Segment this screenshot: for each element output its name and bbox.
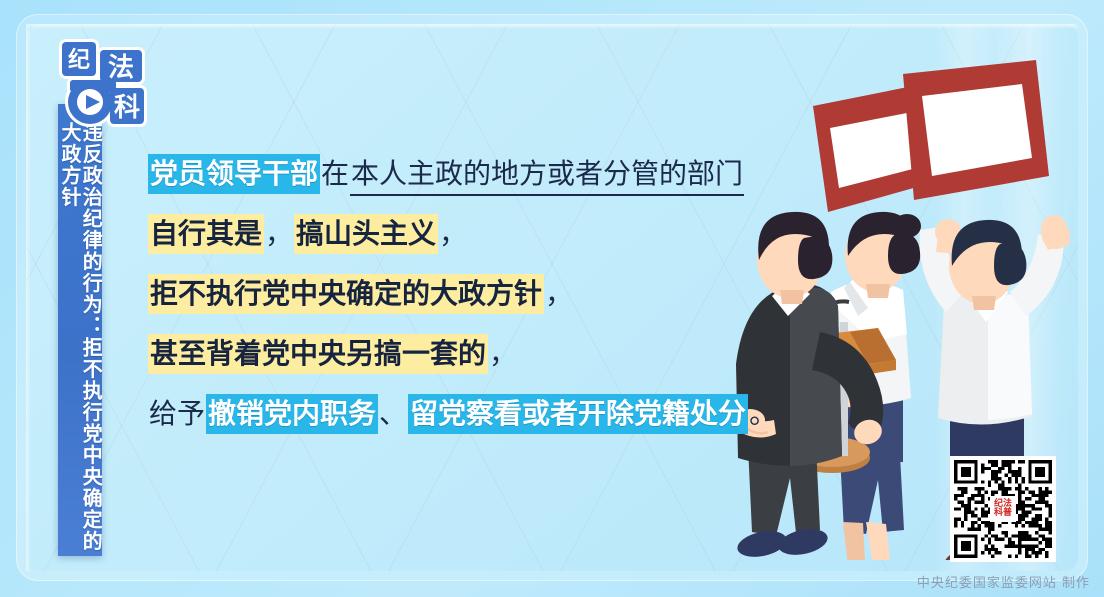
text-segment: ，	[544, 275, 574, 312]
text-segment: ，	[438, 215, 468, 252]
frame-top-highlight	[26, 24, 1078, 29]
logo-char-fa: 法	[108, 53, 134, 83]
frame-left-highlight	[26, 24, 31, 571]
text-line: 拒不执行党中央确定的大政方针，	[148, 264, 788, 324]
text-segment: 撤销党内职务	[206, 394, 378, 434]
vertical-banner-text: 违反政治纪律的行为：拒不执行党中央确定的大政方针	[59, 122, 101, 556]
vertical-banner: 违反政治纪律的行为：拒不执行党中央确定的大政方针	[58, 104, 102, 556]
credit-text: 中央纪委国家监委网站 制作	[917, 572, 1090, 591]
text-segment: 本人主政的地方或者分管的部门	[350, 155, 744, 196]
logo-char-ke: 科	[114, 93, 140, 123]
qr-center-logo: 纪法科普	[990, 496, 1016, 522]
qr-code[interactable]: 纪法科普	[950, 456, 1056, 562]
qr-center-logo-text: 纪法科普	[991, 500, 1015, 518]
text-segment: 搞山头主义	[294, 214, 438, 254]
text-segment: 甚至背着党中央另搞一套的	[148, 334, 488, 374]
text-line: 给予撤销党内职务、留党察看或者开除党籍处分。	[148, 384, 788, 444]
text-segment: ，	[264, 215, 294, 252]
sign-right	[903, 60, 1049, 200]
main-text-block: 党员领导干部在本人主政的地方或者分管的部门 自行其是，搞山头主义， 拒不执行党中…	[148, 144, 788, 444]
text-segment: 给予	[148, 395, 206, 432]
brand-logo: 纪 法 科	[56, 36, 148, 128]
text-segment: 拒不执行党中央确定的大政方针	[148, 274, 544, 314]
text-line: 党员领导干部在本人主政的地方或者分管的部门	[148, 144, 788, 204]
text-line: 自行其是，搞山头主义，	[148, 204, 788, 264]
text-segment: 自行其是	[148, 214, 264, 254]
poster-canvas: 纪 法 科 违反政治纪律的行为：拒不执行党中央确定的大政方针 党员领导干部在本人…	[0, 0, 1104, 597]
text-segment: 在	[320, 155, 350, 192]
text-segment: 留党察看或者开除党籍处分	[408, 394, 748, 434]
text-segment: 党员领导干部	[148, 154, 320, 194]
logo-char-ji: 纪	[68, 47, 90, 73]
text-segment: 、	[378, 395, 408, 432]
text-segment: ，	[488, 335, 518, 372]
text-line: 甚至背着党中央另搞一套的，	[148, 324, 788, 384]
text-segment: 。	[748, 395, 778, 432]
